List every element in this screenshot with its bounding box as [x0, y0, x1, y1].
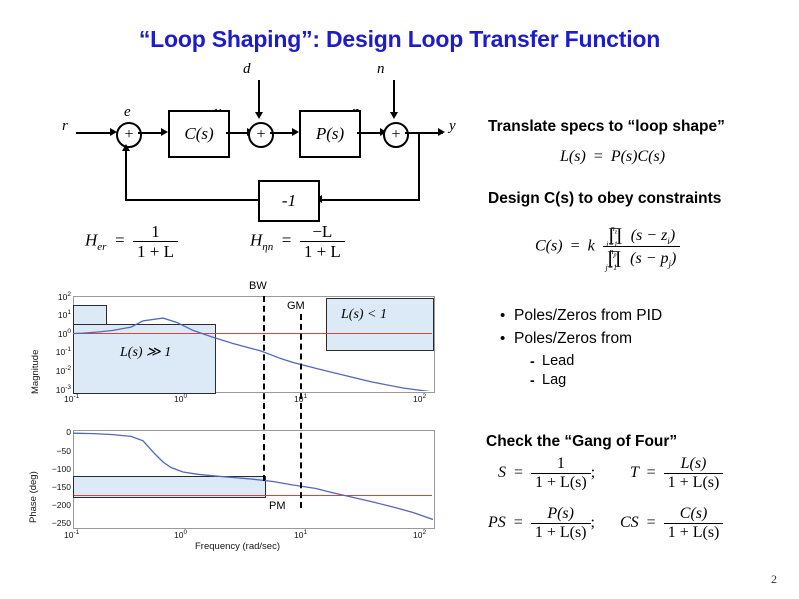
hetan-lhs: H	[250, 230, 262, 249]
heading-design-cs: Design C(s) to obey constraints	[488, 190, 721, 208]
feedback-gain-block: -1	[258, 180, 320, 222]
gof-CS-denominator: 1 + L(s)	[664, 523, 724, 542]
page-title: “Loop Shaping”: Design Loop Transfer Fun…	[0, 26, 799, 53]
phase-y-axis-label: Phase (deg)	[28, 471, 39, 523]
bode-magnitude-plot: Magnitude 102 101 100 10-1 10-2 10-3 10-…	[20, 294, 460, 414]
gof-S-separator: ;	[591, 464, 595, 481]
signal-label-y: y	[449, 118, 456, 135]
list-item-label: Poles/Zeros from	[514, 329, 632, 349]
signal-label-r: r	[62, 118, 68, 135]
slide-root: “Loop Shaping”: Design Loop Transfer Fun…	[0, 0, 799, 599]
summing-junction-2: +	[248, 122, 274, 148]
formula-L-rhs: P(s)C(s)	[611, 148, 665, 165]
gang-of-four-T: T = L(s) 1 + L(s)	[630, 455, 723, 492]
her-numerator: 1	[133, 222, 178, 241]
phase-ytick-0: 0	[41, 427, 71, 437]
formula-C-gain: k	[588, 237, 595, 254]
her-lhs: H	[85, 230, 97, 249]
magnitude-curve-svg	[73, 296, 433, 391]
page-number: 2	[771, 572, 777, 587]
transfer-function-her: Her = 1 1 + L	[85, 222, 178, 261]
hetan-sub: ηn	[262, 241, 273, 253]
magnitude-xtick-3: 102	[413, 393, 426, 404]
gof-S-denominator: 1 + L(s)	[531, 473, 591, 492]
numerator-term: (s − zi)	[631, 227, 675, 244]
magnitude-xtick-1: 100	[174, 393, 187, 404]
gof-PS-lhs: PS	[488, 514, 506, 531]
list-item-lag: - Lag	[530, 371, 790, 390]
magnitude-gm-label: GM	[287, 300, 305, 312]
bullet-marker-icon: •	[500, 306, 514, 326]
formula-loop-transfer: L(s) = P(s)C(s)	[560, 148, 665, 166]
denominator-lower-limit: j=1	[606, 264, 618, 273]
list-item-label: Lead	[542, 352, 574, 371]
phase-xtick-0: 10-1	[64, 529, 79, 540]
gof-PS-numerator: P(s)	[531, 505, 591, 523]
signal-label-n: n	[377, 61, 385, 78]
phase-curve-svg	[73, 430, 433, 527]
gof-T-lhs: T	[630, 464, 639, 481]
phase-xtick-1: 100	[174, 529, 187, 540]
gof-T-denominator: 1 + L(s)	[664, 473, 724, 492]
magnitude-ytick-0: 102	[41, 291, 71, 302]
gang-of-four-S: S = 1 1 + L(s) ;	[498, 455, 595, 492]
gof-PS-denominator: 1 + L(s)	[531, 523, 591, 542]
gof-T-numerator: L(s)	[664, 455, 724, 473]
phase-ytick-3: −150	[34, 482, 71, 492]
phase-curve-path	[73, 433, 433, 519]
formula-L-eq: =	[594, 148, 603, 165]
hetan-denominator: 1 + L	[300, 241, 345, 261]
phase-pm-label: PM	[269, 500, 286, 512]
bullet-list: • Poles/Zeros from PID • Poles/Zeros fro…	[500, 306, 790, 390]
list-item-label: Poles/Zeros from PID	[514, 306, 662, 326]
phase-ytick-2: −100	[34, 464, 71, 474]
hetan-numerator: −L	[300, 222, 345, 241]
magnitude-bw-label: BW	[249, 280, 267, 292]
heading-gang-of-four: Check the “Gang of Four”	[486, 433, 677, 451]
heading-translate-specs: Translate specs to “loop shape”	[488, 118, 725, 136]
phase-pm-dashed-line	[263, 403, 265, 481]
list-item-poles-zeros-from: • Poles/Zeros from	[500, 329, 790, 349]
plant-block: P(s)	[299, 110, 361, 158]
gof-CS-lhs: CS	[620, 514, 639, 531]
signal-label-d: d	[243, 61, 251, 78]
block-diagram: r e u d η n y + C(s) + P(s)	[62, 62, 472, 212]
magnitude-ytick-2: 100	[41, 328, 71, 339]
magnitude-ytick-1: 101	[41, 309, 71, 320]
bullet-marker-icon: •	[500, 329, 514, 349]
bode-phase-plot: Phase (deg) 0 −50 −100 −150 −200 −250 10…	[20, 428, 460, 568]
dash-marker-icon: -	[530, 371, 542, 390]
gof-S-numerator: 1	[531, 455, 591, 473]
gang-of-four-CS: CS = C(s) 1 + L(s)	[620, 505, 723, 542]
magnitude-curve-path	[73, 318, 433, 391]
controller-block: C(s)	[168, 110, 230, 158]
her-denominator: 1 + L	[133, 241, 178, 261]
list-item-poles-zeros-pid: • Poles/Zeros from PID	[500, 306, 790, 326]
phase-gm-dashed-line	[300, 403, 302, 508]
formula-C-lhs: C(s)	[535, 237, 563, 254]
phase-x-axis-label: Frequency (rad/sec)	[195, 541, 280, 552]
magnitude-gm-dashed-line	[300, 314, 302, 409]
denominator-term: (s − pj)	[630, 250, 676, 267]
signal-label-e: e	[124, 104, 131, 121]
summing-junction-3: +	[383, 122, 409, 148]
dash-marker-icon: -	[530, 352, 542, 371]
gof-PS-separator: ;	[591, 514, 595, 531]
magnitude-xtick-0: 10-1	[64, 393, 79, 404]
phase-ytick-4: −200	[34, 500, 71, 510]
magnitude-ytick-4: 10-2	[39, 365, 71, 376]
phase-xtick-2: 101	[294, 529, 307, 540]
denominator-upper-limit: np	[610, 248, 617, 259]
magnitude-bw-dashed-line	[263, 296, 265, 409]
list-item-lead: - Lead	[530, 352, 790, 371]
phase-ytick-1: −50	[36, 446, 71, 456]
her-sub: er	[97, 241, 106, 253]
formula-C-eq: =	[571, 237, 580, 254]
gof-CS-numerator: C(s)	[664, 505, 724, 523]
transfer-function-hetan: Hηn = −L 1 + L	[250, 222, 345, 261]
magnitude-ytick-3: 10-1	[39, 346, 71, 357]
gof-S-lhs: S	[498, 464, 506, 481]
phase-xtick-3: 102	[413, 529, 426, 540]
phase-ytick-5: −250	[34, 518, 71, 528]
formula-L-lhs: L(s)	[560, 148, 586, 165]
gang-of-four-PS: PS = P(s) 1 + L(s) ;	[488, 505, 595, 542]
numerator-upper-limit: nz	[611, 225, 617, 236]
formula-controller: C(s) = k ∏nzi=1(s − zi) ∏npj=1(s − pj)	[535, 224, 680, 270]
list-item-label: Lag	[542, 371, 566, 390]
